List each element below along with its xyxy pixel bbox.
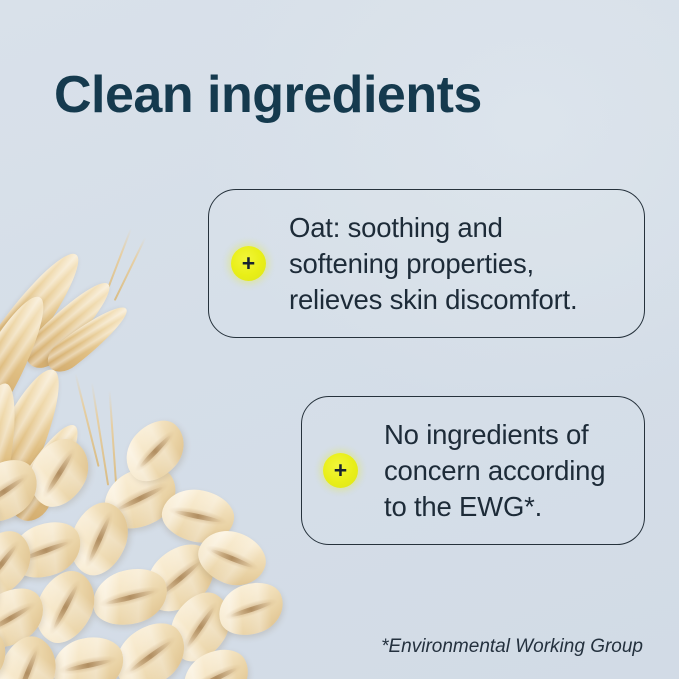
oat-flake [212,575,290,643]
fact-card-ewg-safety[interactable]: + No ingredients of concern according to… [301,396,645,545]
plus-icon: + [231,246,266,281]
oat-husk [18,272,120,376]
oat-husk [0,360,75,500]
oat-flake [114,410,196,492]
footnote-text: *Environmental Working Group [0,636,643,658]
fact-card-oat-benefit[interactable]: + Oat: soothing and softening properties… [208,189,645,338]
oat-awn [114,237,146,301]
oat-flake [94,456,187,540]
oat-flake [18,429,101,517]
oat-flake [0,448,49,533]
oat-flake [157,483,238,549]
oat-flake [0,554,5,636]
oat-flake [3,513,88,586]
oat-awn [91,382,109,485]
oat-awn [74,373,99,467]
oat-husk [4,416,91,529]
oat-awn [102,228,132,302]
oat-husk [0,242,92,369]
oat-flake [59,494,138,584]
oat-husk [0,287,58,413]
oat-flake [87,562,174,633]
oat-husk [0,379,27,511]
fact-card-text: No ingredients of concern according to t… [384,417,644,525]
oat-flake [157,582,242,672]
page-title: Clean ingredients [54,66,482,124]
fact-card-text: Oat: soothing and softening properties, … [289,210,644,318]
ingredients-infographic: Clean ingredients + Oat: soothing and so… [0,0,679,679]
oat-flake [133,532,227,624]
oat-flake [191,521,274,595]
oat-awn [109,390,118,490]
oat-husk [42,297,135,378]
oat-flake [0,490,3,551]
oat-flake [0,520,43,607]
plus-icon: + [323,453,358,488]
